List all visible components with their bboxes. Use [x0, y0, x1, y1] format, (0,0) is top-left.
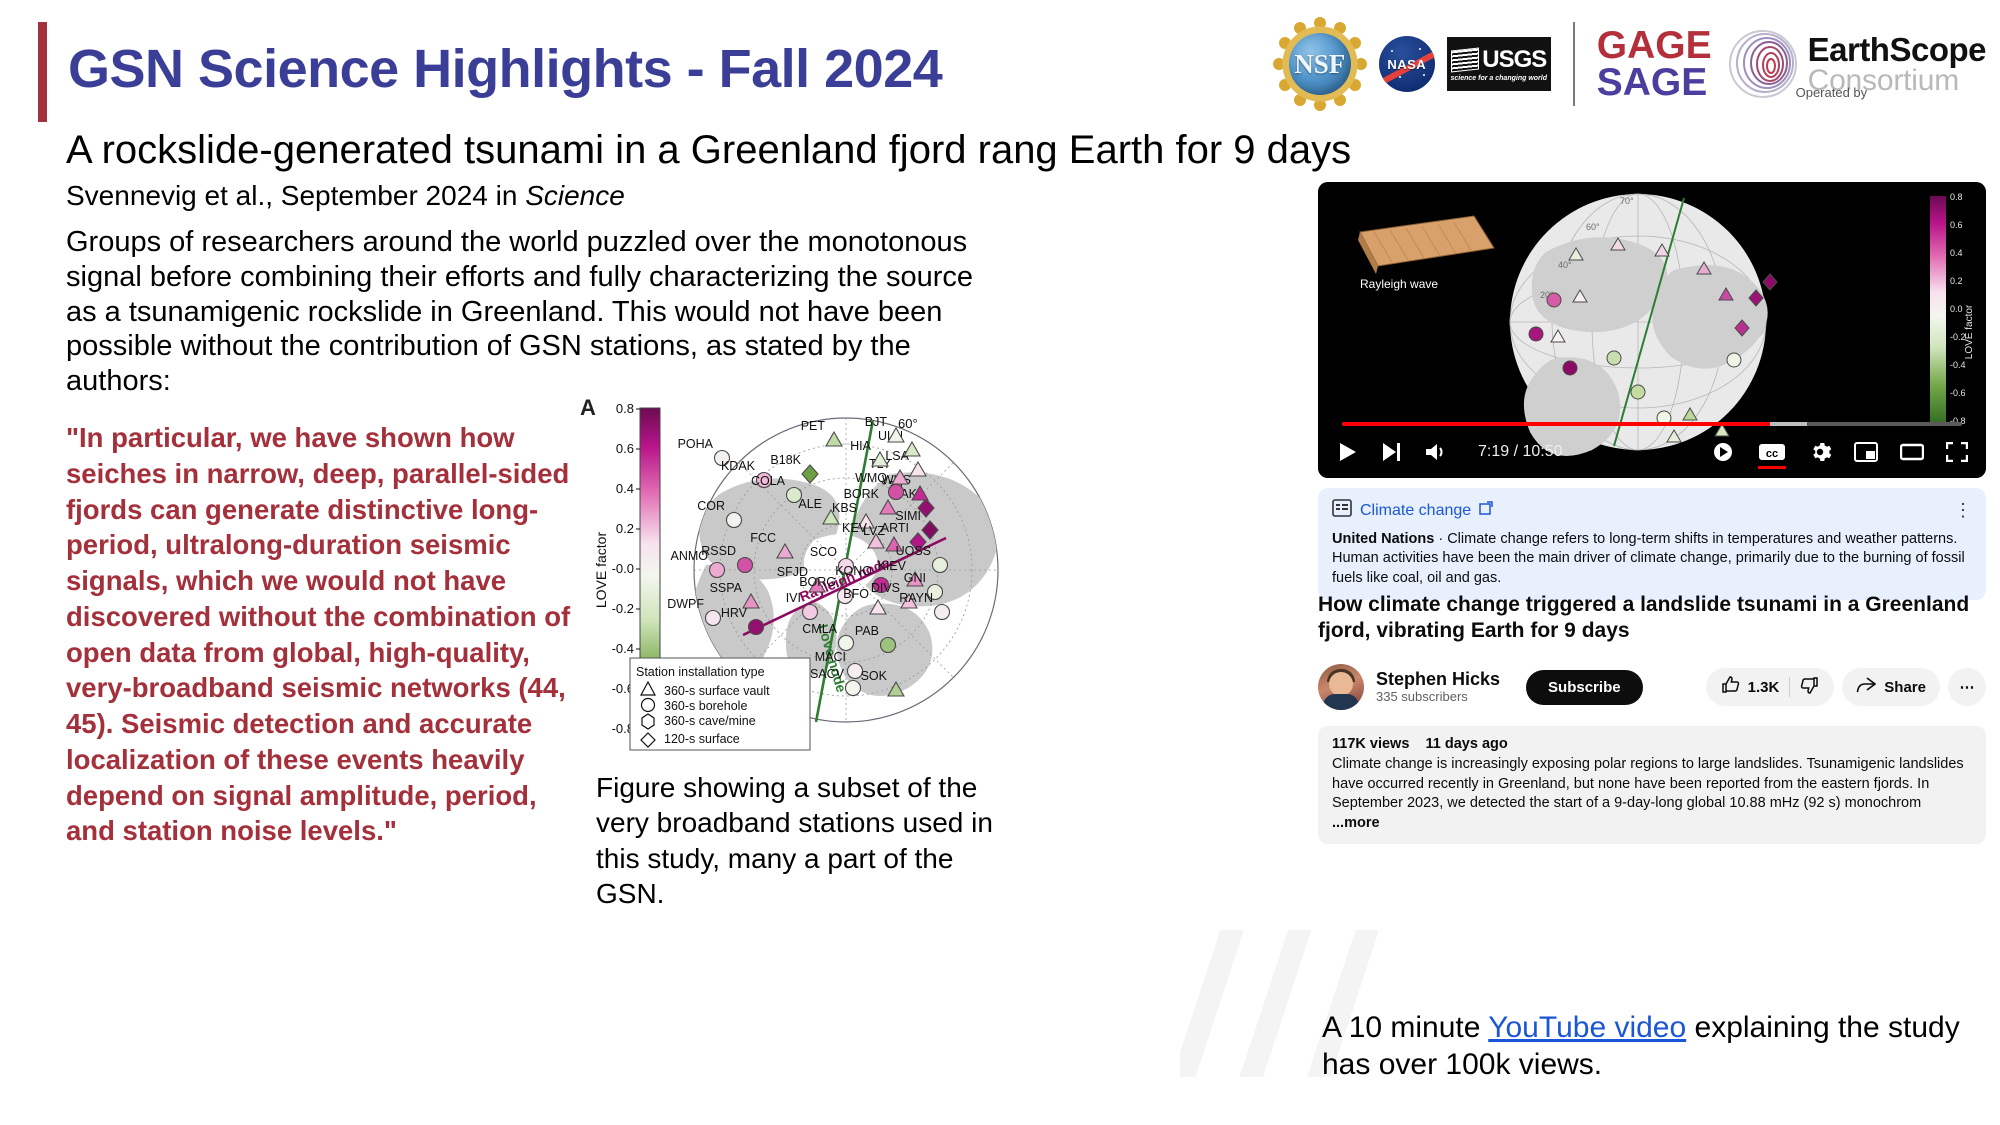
station-label: COR [697, 499, 725, 513]
svg-text:70°: 70° [1620, 196, 1634, 206]
view-count: 117K views [1332, 736, 1409, 752]
video-description: Climate change is increasingly exposing … [1332, 755, 1972, 834]
station-label: HRV [721, 606, 748, 620]
svg-text:40°: 40° [1558, 260, 1572, 270]
title-accent-bar [38, 22, 47, 122]
figure-legend: Station installation type 360-s surface … [630, 658, 810, 750]
description-text: Climate change is increasingly exposing … [1332, 756, 1964, 811]
share-label: Share [1884, 679, 1926, 696]
usgs-logo-label: USGS [1482, 46, 1546, 74]
logo-strip: NSF NASA USGS science for a changing wor… [1273, 14, 1986, 114]
svg-text:0.8: 0.8 [1950, 192, 1963, 202]
station-label: UOSS [896, 544, 931, 558]
station-label: CMLA [802, 622, 837, 636]
video-controls: 7:19 / 10:50 cc [1318, 426, 1986, 478]
nasa-logo-icon: NASA [1379, 36, 1435, 92]
nasa-logo-label: NASA [1379, 36, 1435, 92]
station-label: PET [801, 419, 826, 433]
svg-text:Rayleigh wave: Rayleigh wave [1360, 277, 1438, 291]
svg-text:0.0: 0.0 [1950, 304, 1963, 314]
show-more-link[interactable]: ...more [1332, 815, 1380, 831]
nsf-logo-icon: NSF [1273, 17, 1367, 111]
topic-link[interactable]: Climate change [1360, 502, 1471, 520]
station-label: BFO [843, 587, 869, 601]
svg-text:Station installation type: Station installation type [636, 665, 765, 679]
station-label: DWPF [667, 597, 704, 611]
journal-name: Science [525, 180, 625, 211]
logo-divider [1573, 22, 1575, 106]
earthscope-spiral-icon [1724, 25, 1802, 103]
svg-text:0.4: 0.4 [616, 481, 634, 496]
video-player[interactable]: 70° 60° 40° 20° Rayleigh wave [1318, 182, 1986, 478]
station-label: PAB [855, 624, 879, 638]
figure-caption: Figure showing a subset of the very broa… [596, 770, 1026, 911]
station-label: MACI [815, 650, 846, 664]
captions-icon[interactable]: cc [1758, 442, 1786, 462]
like-count: 1.3K [1748, 679, 1780, 696]
svg-text:0.6: 0.6 [1950, 220, 1963, 230]
svg-text:60°: 60° [1586, 222, 1600, 232]
miniplayer-icon[interactable] [1854, 442, 1878, 462]
svg-text:360-s cave/mine: 360-s cave/mine [664, 714, 756, 728]
svg-text:0.6: 0.6 [616, 441, 634, 456]
video-meta: 117K views 11 days ago [1332, 736, 1972, 752]
svg-text:-0.6: -0.6 [1950, 388, 1966, 398]
operated-by-label: Operated by [1796, 85, 1868, 100]
article-headline: A rockslide-generated tsunami in a Green… [66, 128, 1351, 173]
svg-text:LOVE factor: LOVE factor [1964, 304, 1975, 359]
svg-text:0.8: 0.8 [616, 401, 634, 416]
article-quote: "In particular, we have shown how seiche… [66, 420, 586, 849]
station-label: ARTI [881, 521, 909, 535]
video-time: 7:19 / 10:50 [1478, 443, 1563, 461]
svg-text:0.2: 0.2 [616, 521, 634, 536]
station-label: KIEV [878, 559, 907, 573]
channel-row: Stephen Hicks 335 subscribers Subscribe … [1318, 664, 1986, 710]
subscribe-button[interactable]: Subscribe [1526, 670, 1643, 705]
fullscreen-icon[interactable] [1946, 442, 1968, 462]
page-title: GSN Science Highlights - Fall 2024 [68, 38, 942, 100]
earthscope-name: EarthScope [1808, 33, 1986, 66]
thumbs-up-icon[interactable] [1720, 675, 1740, 699]
channel-name[interactable]: Stephen Hicks [1376, 669, 1500, 690]
channel-subscribers: 335 subscribers [1376, 690, 1500, 705]
external-link-icon[interactable] [1479, 501, 1493, 520]
station-label: KBS [832, 501, 857, 515]
article-body: Groups of researchers around the world p… [66, 225, 1006, 399]
station-label: SCO [810, 545, 837, 559]
svg-text:-0.4: -0.4 [1950, 360, 1966, 370]
station-label: HIA [850, 439, 872, 453]
svg-text:120-s surface: 120-s surface [664, 732, 740, 746]
usgs-wave-icon [1451, 48, 1479, 73]
info-panel-icon [1332, 498, 1352, 523]
svg-text:cc: cc [1766, 448, 1778, 460]
svg-text:360-s borehole: 360-s borehole [664, 699, 747, 713]
station-label: KDAK [721, 459, 756, 473]
youtube-caption: A 10 minute YouTube video explaining the… [1322, 1010, 1992, 1083]
station-label: IVI [786, 591, 801, 605]
video-description-box[interactable]: 117K views 11 days ago Climate change is… [1318, 726, 1986, 844]
svg-text:LOVE factor: LOVE factor [593, 532, 609, 609]
svg-text:360-s surface vault: 360-s surface vault [664, 684, 770, 698]
usgs-logo-icon: USGS science for a changing world [1447, 37, 1551, 91]
settings-gear-icon[interactable] [1808, 440, 1832, 464]
svg-text:-0.2: -0.2 [612, 601, 634, 616]
sage-label: SAGE [1597, 64, 1712, 101]
youtube-video-link[interactable]: YouTube video [1488, 1011, 1686, 1044]
thumbs-down-icon[interactable] [1800, 675, 1820, 699]
station-label: B18K [770, 453, 801, 467]
station-label: SACV [810, 667, 845, 681]
article-byline: Svennevig et al., September 2024 in Scie… [66, 180, 625, 212]
station-label: BORK [844, 487, 880, 501]
more-options-icon[interactable]: ⋮ [1954, 505, 1972, 516]
svg-text:-0.0: -0.0 [612, 561, 634, 576]
station-label: COLA [751, 474, 786, 488]
station-label: ALE [798, 497, 822, 511]
station-label: WMQ [855, 471, 887, 485]
autoplay-icon[interactable] [1710, 441, 1736, 463]
station-label: SSPA [710, 581, 743, 595]
station-label: GNI [904, 571, 926, 585]
gage-label: GAGE [1597, 27, 1712, 64]
next-icon[interactable] [1380, 441, 1402, 463]
station-label: POHA [678, 437, 714, 451]
more-actions-button[interactable]: ⋯ [1948, 668, 1986, 706]
svg-text:-0.4: -0.4 [612, 641, 634, 656]
theater-mode-icon[interactable] [1900, 442, 1924, 462]
station-label: DIVS [871, 581, 900, 595]
usgs-tagline: science for a changing world [1451, 75, 1547, 82]
gage-sage-logo: GAGE SAGE [1597, 27, 1712, 101]
nsf-logo-label: NSF [1273, 17, 1367, 111]
station-label: BORG [799, 575, 836, 589]
figure-panel-label: A [580, 395, 596, 421]
youtube-embed: 70° 60° 40° 20° Rayleigh wave [1318, 182, 1986, 982]
polar-station-map: 0.8 0.6 0.4 0.2 -0.0 -0.2 -0.4 -0.6 -0.8 [578, 390, 1033, 770]
station-label: ANMO [671, 549, 709, 563]
volume-icon[interactable] [1424, 441, 1448, 463]
info-card-source: United Nations [1332, 531, 1434, 547]
action-divider [1789, 677, 1790, 697]
station-label: SIMI [895, 509, 921, 523]
slide-root: /// GSN Science Highlights - Fall 2024 N… [0, 0, 2000, 1125]
station-label: SOK [861, 669, 888, 683]
share-button[interactable]: Share [1842, 668, 1940, 706]
earthscope-logo: EarthScope Consortium Operated by [1724, 25, 1986, 103]
svg-text:20°: 20° [1540, 290, 1554, 300]
science-figure: A 0.8 0.6 0.4 [578, 390, 1033, 770]
caption-before: A 10 minute [1322, 1011, 1488, 1044]
upload-age: 11 days ago [1426, 736, 1508, 752]
station-label: RAYN [899, 591, 933, 605]
station-label: FCC [750, 531, 776, 545]
video-title: How climate change triggered a landslide… [1318, 592, 1978, 643]
station-label: BJT [865, 415, 888, 429]
svg-text:0.2: 0.2 [1950, 276, 1963, 286]
like-dislike-group[interactable]: 1.3K [1706, 668, 1835, 706]
play-icon[interactable] [1336, 441, 1358, 463]
info-card-text: United Nations · Climate change refers t… [1332, 530, 1972, 588]
channel-avatar[interactable] [1318, 664, 1364, 710]
captions-active-underline [1758, 466, 1786, 469]
context-info-card: Climate change ⋮ United Nations · Climat… [1318, 488, 1986, 600]
byline-text: Svennevig et al., September 2024 in [66, 180, 525, 211]
svg-text:0.4: 0.4 [1950, 248, 1963, 258]
station-label: KONO [835, 564, 872, 578]
share-icon [1856, 676, 1876, 698]
